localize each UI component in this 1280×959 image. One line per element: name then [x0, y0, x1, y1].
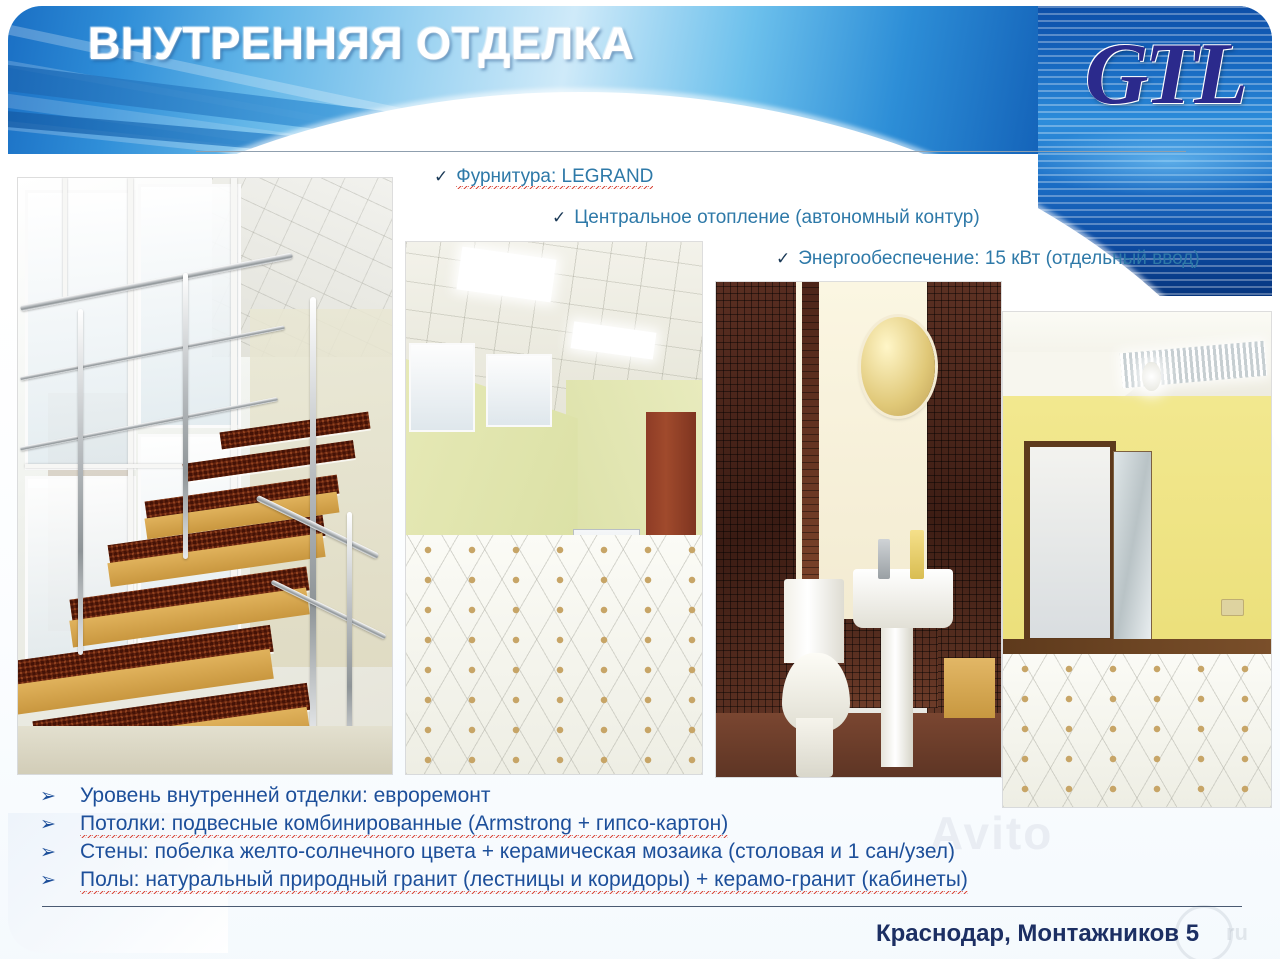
check-bullet-heating: ✓Центральное отопление (автономный конту…: [552, 207, 980, 229]
bullet-label: Стены: побелка желто-солнечного цвета + …: [80, 840, 955, 864]
bottom-bullet-list: ➢ Уровень внутренней отделки: евроремонт…: [40, 784, 1220, 896]
toilet-base: [796, 718, 833, 777]
footer-address: Краснодар, Монтажников 5: [876, 920, 1199, 948]
check-bullet-label: Фурнитура: LEGRAND: [456, 166, 653, 189]
toilet-tank: [784, 579, 844, 663]
arrow-bullet-icon: ➢: [40, 785, 80, 808]
presentation-slide: ВНУТРЕННЯЯ ОТДЕЛКА GTL ✓Фурнитура: LEGRA…: [0, 0, 1280, 959]
skirting-board: [1003, 639, 1271, 654]
tile-accent-dots: [406, 535, 702, 774]
arrow-bullet-icon: ➢: [40, 869, 80, 892]
spotlight: [1142, 362, 1161, 392]
glass-door-panel: [1113, 451, 1153, 641]
arrow-bullet-icon: ➢: [40, 813, 80, 836]
washbasin: [853, 569, 953, 628]
bathroom-photo: [716, 282, 1001, 777]
check-bullet-label: Энергообеспечение: 15 кВт (отдельный вво…: [798, 248, 1199, 269]
bullet-finish-level: ➢ Уровень внутренней отделки: евроремонт: [40, 784, 1220, 812]
window-pane: [138, 184, 241, 428]
wall-socket: [1221, 599, 1244, 616]
door-frame: [1024, 441, 1115, 644]
tile-floor: [406, 535, 702, 774]
check-icon: ✓: [776, 249, 790, 268]
corridor-window: [409, 343, 475, 432]
mosaic-accent-strip: [802, 282, 819, 589]
arrow-bullet-icon: ➢: [40, 841, 80, 864]
faucet: [878, 539, 889, 579]
sink-pedestal: [881, 624, 912, 768]
rail-post: [310, 297, 316, 738]
window-mullion: [63, 178, 67, 297]
staircase-photo: [18, 178, 392, 774]
gtl-logo: GTL: [1085, 25, 1265, 125]
bullet-floors: ➢ Полы: натуральный природный гранит (ле…: [40, 868, 1220, 896]
check-icon: ✓: [434, 167, 448, 186]
slide-title: ВНУТРЕННЯЯ ОТДЕЛКА: [88, 18, 635, 70]
wooden-bench: [944, 658, 995, 717]
corridor-photo: [406, 242, 702, 774]
rail-post: [183, 273, 188, 559]
bullet-label: Полы: натуральный природный гранит (лест…: [80, 868, 968, 894]
rail-post: [78, 309, 83, 655]
check-bullet-label: Центральное отопление (автономный контур…: [574, 207, 979, 228]
check-bullet-power: ✓Энергообеспечение: 15 кВт (отдельный вв…: [776, 248, 1200, 270]
oval-mirror: [861, 317, 935, 416]
soap-dispenser: [910, 530, 924, 580]
rail-post: [347, 512, 352, 762]
top-divider-rule: [196, 151, 1186, 152]
footer-divider-rule: [42, 906, 1242, 907]
bullet-label: Уровень внутренней отделки: евроремонт: [80, 784, 491, 808]
landing-floor: [18, 726, 392, 774]
gtl-logo-text: GTL: [1085, 26, 1244, 123]
office-room-photo: [1003, 312, 1271, 807]
corridor-window: [486, 354, 552, 427]
bathroom-floor: [716, 713, 1001, 777]
panel-glow: [1038, 126, 1272, 196]
check-icon: ✓: [552, 208, 566, 227]
bullet-walls: ➢ Стены: побелка желто-солнечного цвета …: [40, 840, 1220, 868]
check-bullet-furniture: ✓Фурнитура: LEGRAND: [434, 166, 653, 188]
bullet-ceilings: ➢ Потолки: подвесные комбинированные (Ar…: [40, 812, 1220, 840]
bullet-label: Потолки: подвесные комбинированные (Arms…: [80, 812, 728, 838]
